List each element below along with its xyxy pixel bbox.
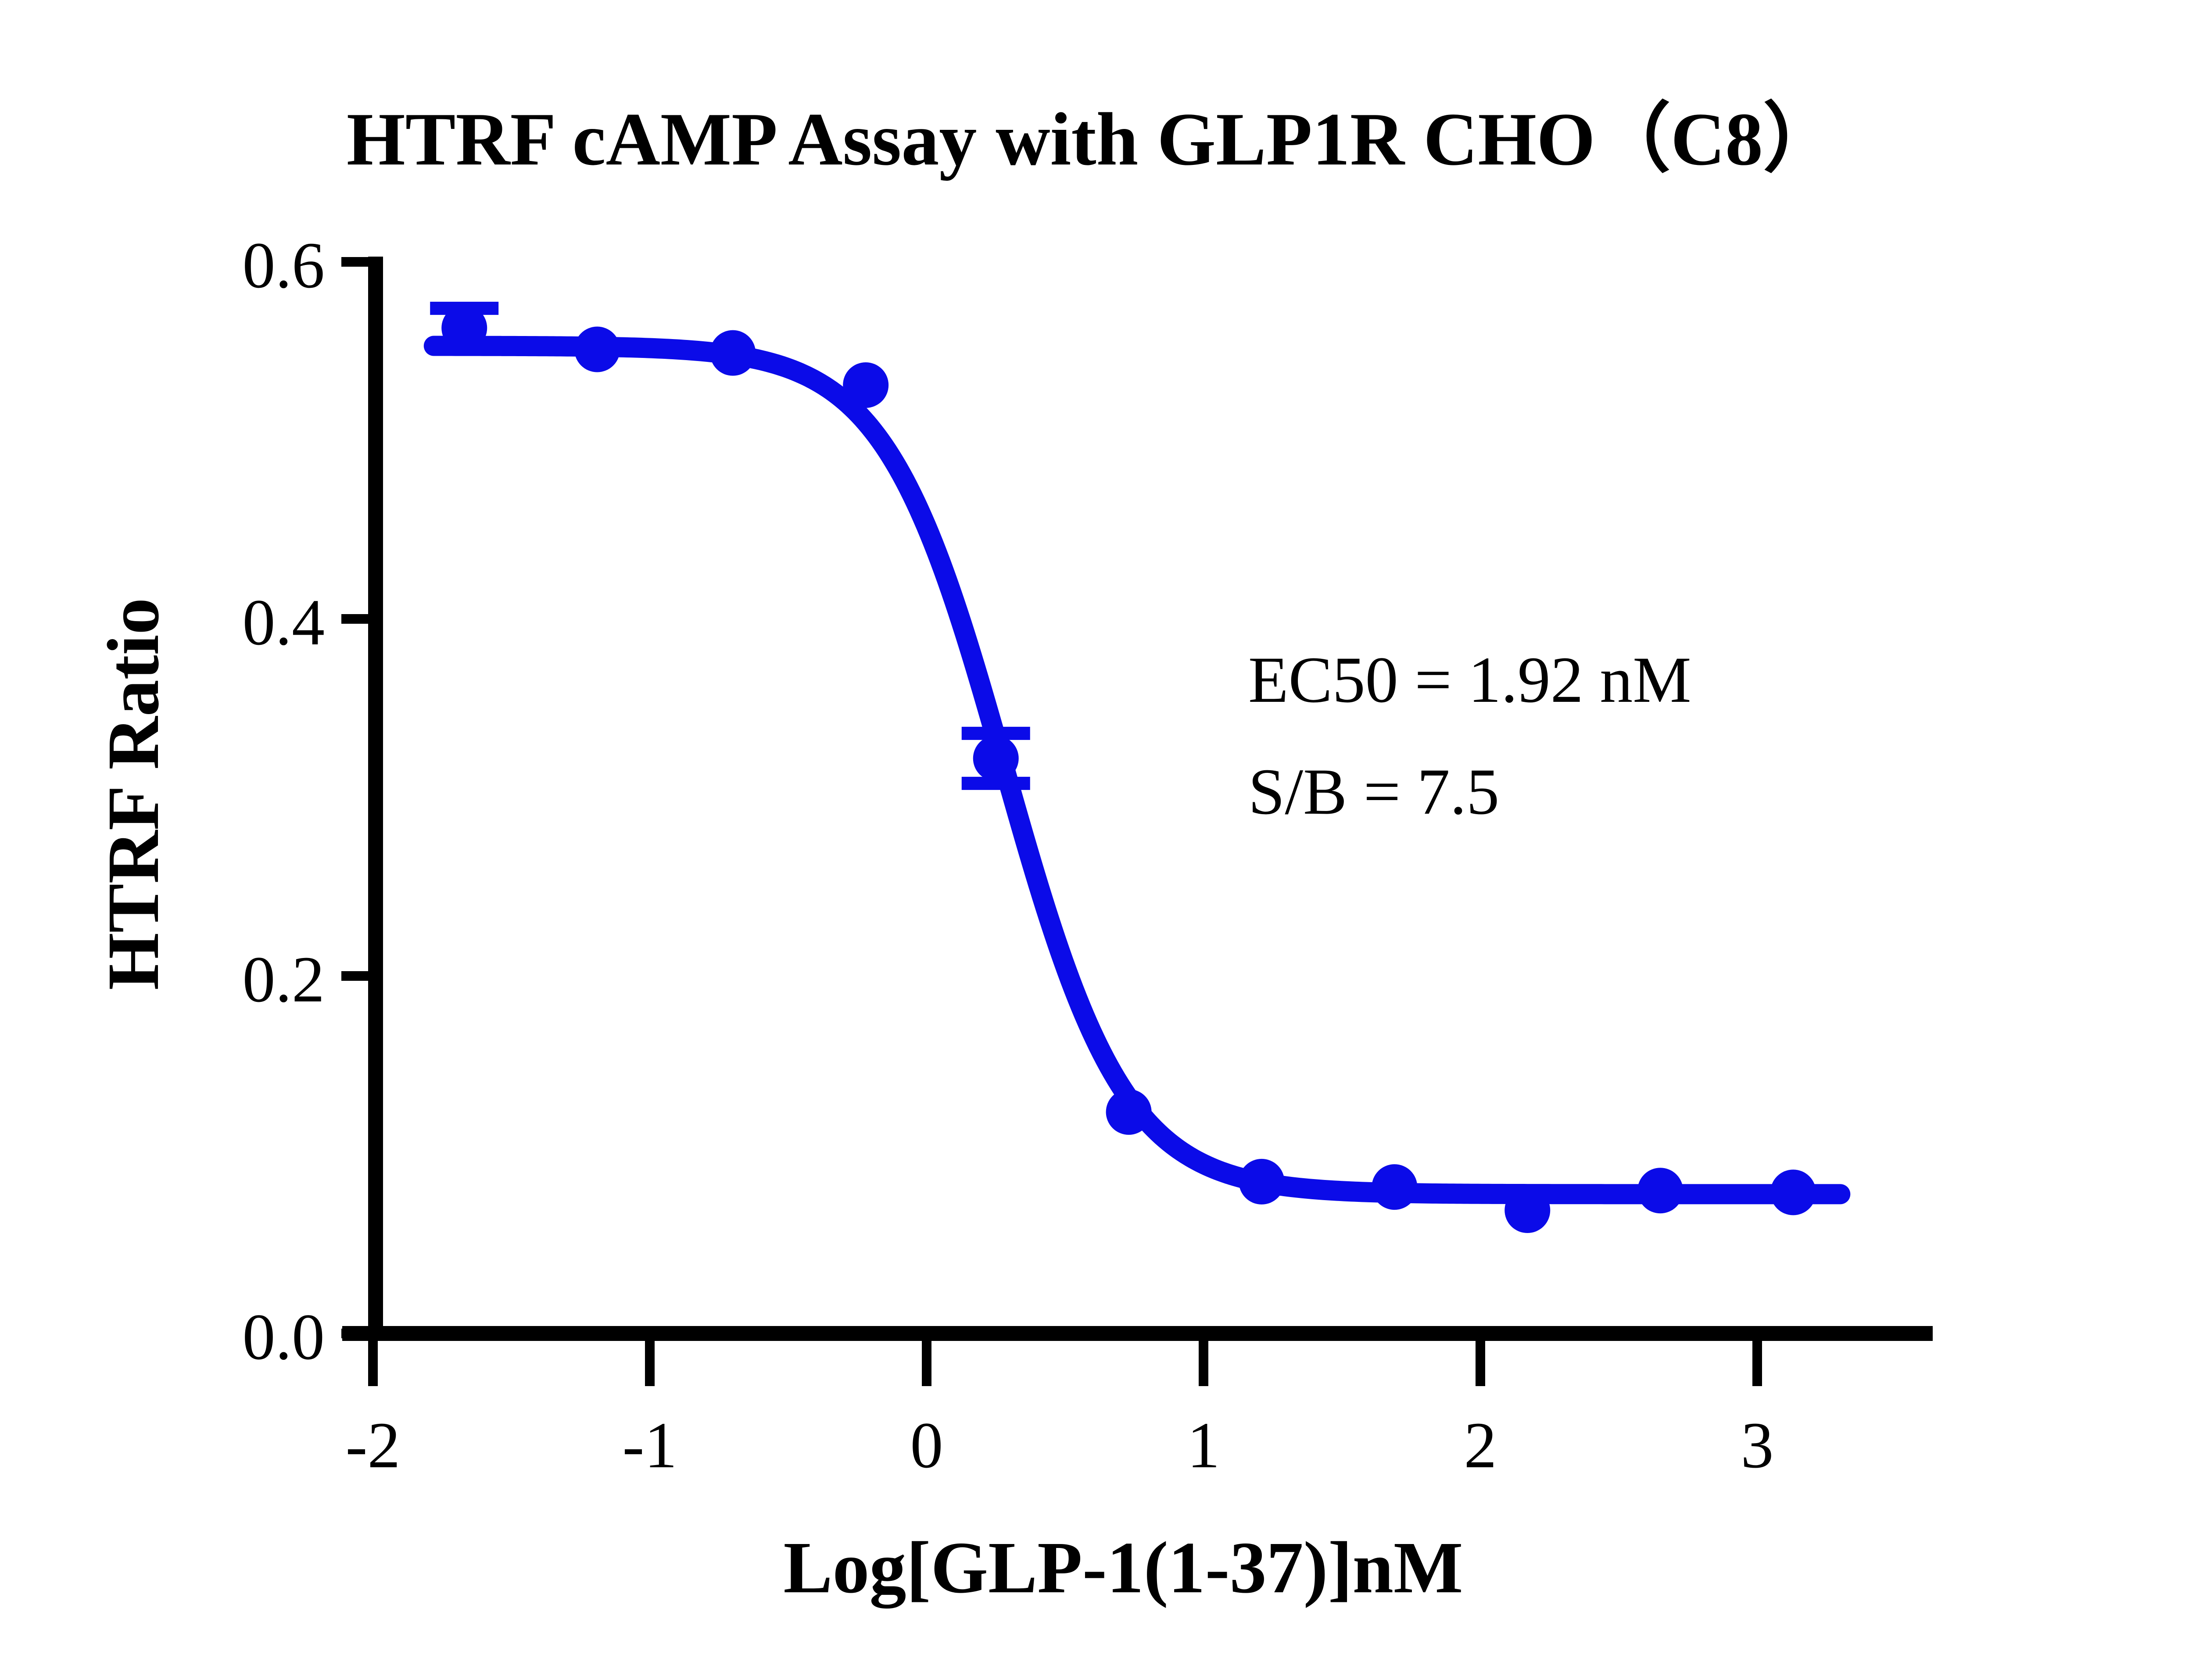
data-point-marker <box>1770 1169 1816 1215</box>
y-axis-title: HTRF Ratio <box>93 598 174 990</box>
data-point-marker <box>1637 1168 1683 1213</box>
x-tick-label-3: 1 <box>1187 1409 1220 1482</box>
data-point-marker <box>1504 1187 1550 1233</box>
y-tick-label-0: 0.6 <box>243 229 325 302</box>
x-axis-tick-labels: -2 -1 0 1 2 3 <box>346 1409 1774 1482</box>
figure-container: HTRF cAMP Assay with GLP1R CHO（C8） <box>0 0 2185 1680</box>
x-axis-ticks <box>373 1341 1757 1386</box>
y-tick-label-2: 0.2 <box>243 943 325 1016</box>
data-points-group <box>441 305 1816 1233</box>
data-point-marker <box>1239 1159 1285 1205</box>
x-tick-label-1: -1 <box>623 1409 677 1482</box>
data-point-marker <box>441 305 487 351</box>
data-point-marker <box>574 327 620 372</box>
axis-lines <box>342 257 1933 1333</box>
plot-area: 0.6 0.4 0.2 0.0 -2 -1 0 1 2 3 Log[GLP-1(… <box>0 0 2185 1680</box>
x-tick-label-0: -2 <box>346 1409 401 1482</box>
x-axis-title: Log[GLP-1(1-37)]nM <box>783 1527 1463 1609</box>
dose-response-curve <box>434 346 1840 1194</box>
ec50-annotation: EC50 = 1.92 nM <box>1248 643 1691 716</box>
annotation-block: EC50 = 1.92 nM S/B = 7.5 <box>1248 643 1691 828</box>
signal-to-background-annotation: S/B = 7.5 <box>1248 755 1499 828</box>
x-tick-label-2: 0 <box>910 1409 943 1482</box>
x-tick-label-5: 3 <box>1741 1409 1774 1482</box>
data-point-marker <box>843 362 888 408</box>
data-point-marker <box>710 330 756 376</box>
y-tick-label-3: 0.0 <box>243 1301 325 1373</box>
data-point-marker <box>973 736 1019 781</box>
data-point-marker <box>1106 1089 1152 1135</box>
x-tick-label-4: 2 <box>1464 1409 1497 1482</box>
data-point-marker <box>1372 1164 1417 1210</box>
y-tick-label-1: 0.4 <box>243 586 325 659</box>
fit-curve-group <box>434 346 1840 1194</box>
y-axis-tick-labels: 0.6 0.4 0.2 0.0 <box>243 229 325 1373</box>
